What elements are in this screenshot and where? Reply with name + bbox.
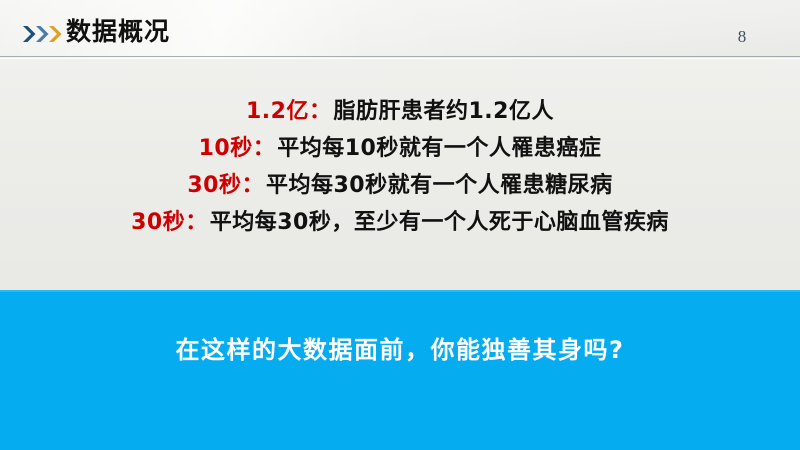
banner-text: 在这样的大数据面前，你能独善其身吗? <box>0 330 800 365</box>
list-item: 1.2亿：脂肪肝患者约1.2亿人 <box>0 93 800 130</box>
stat-value: 平均每10秒就有一个人罹患癌症 <box>277 136 601 161</box>
stat-value: 脂肪肝患者约1.2亿人 <box>334 99 554 124</box>
stat-separator: ： <box>253 136 278 161</box>
page-title: 数据概况 <box>66 16 170 48</box>
stat-key: 1.2亿 <box>246 99 309 124</box>
slide-header: 数据概况 8 <box>0 0 800 58</box>
list-item: 10秒：平均每10秒就有一个人罹患癌症 <box>0 130 800 167</box>
stat-key: 30秒 <box>131 210 185 235</box>
statistics-list: 1.2亿：脂肪肝患者约1.2亿人 10秒：平均每10秒就有一个人罹患癌症 30秒… <box>0 93 800 241</box>
stat-separator: ： <box>241 173 266 198</box>
banner-top-highlight <box>0 290 800 292</box>
stat-separator: ： <box>185 210 210 235</box>
header-divider <box>0 56 800 57</box>
stat-key: 10秒 <box>199 136 253 161</box>
stat-value: 平均每30秒，至少有一个人死于心脑血管疾病 <box>210 210 669 235</box>
slide: 数据概况 8 1.2亿：脂肪肝患者约1.2亿人 10秒：平均每10秒就有一个人罹… <box>0 0 800 450</box>
list-item: 30秒：平均每30秒，至少有一个人死于心脑血管疾病 <box>0 204 800 241</box>
call-to-action-banner: 在这样的大数据面前，你能独善其身吗? 雪球：行研君 <box>0 290 800 450</box>
stat-value: 平均每30秒就有一个人罹患糖尿病 <box>266 173 613 198</box>
header-divider-highlight <box>0 58 800 59</box>
list-item: 30秒：平均每30秒就有一个人罹患糖尿病 <box>0 167 800 204</box>
stat-separator: ： <box>309 99 334 124</box>
chevron-triple-icon <box>22 25 64 43</box>
stat-key: 30秒 <box>187 173 241 198</box>
page-number: 8 <box>730 27 754 47</box>
